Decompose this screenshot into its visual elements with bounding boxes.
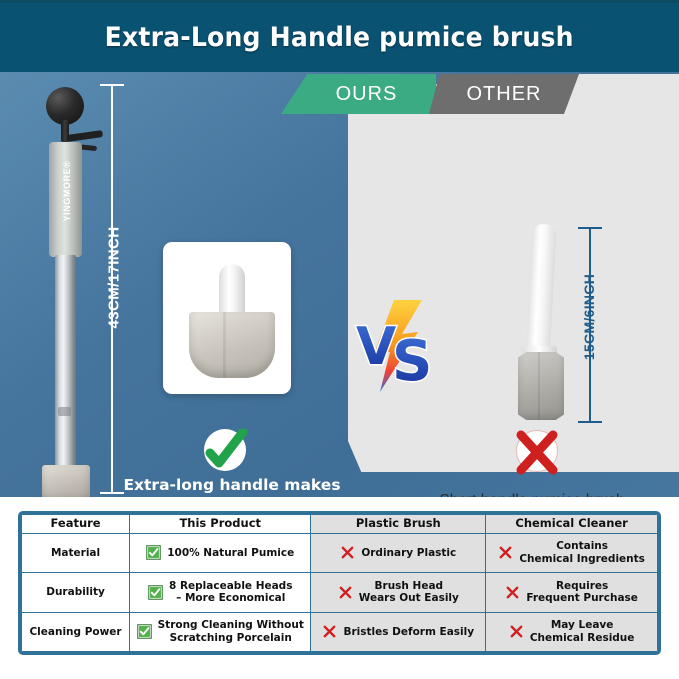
brush-pumice-head [42,465,90,497]
cross-icon [509,624,524,639]
banner-ours-label: OURS [336,83,398,106]
dimension-line-left-top-cap [100,84,124,86]
svg-text:V: V [356,317,396,377]
brush-hook-upper [67,130,104,142]
check-icon [148,585,163,600]
cross-icon [508,430,564,478]
table-row: Material100% Natural PumiceOrdinary Plas… [22,533,658,572]
table-cell-plastic-brush-text: Ordinary Plastic [361,547,456,559]
table-header-feature: Feature [22,515,130,534]
table-cell-this-product-text: 8 Replaceable Heads– More Economical [169,580,292,605]
dimension-line-left-bottom-cap [100,492,124,494]
table-cell-feature: Material [22,533,130,572]
pumice-head-connector [219,264,245,318]
short-handle-brush-image [512,224,570,414]
vs-badge: V S VS [352,298,438,394]
pumice-head-stone [189,312,275,378]
pumice-head-photo-card [163,242,291,394]
table-cell-chemical-cleaner-text: ContainsChemical Ingredients [519,540,645,565]
dimension-line-right-bottom-cap [578,421,602,423]
banner-tail [565,74,679,114]
table-header-chemical-cleaner: Chemical Cleaner [486,515,658,534]
short-brush-handle [526,224,557,353]
banner-other-label: OTHER [467,83,542,106]
check-icon [146,545,161,560]
table-cell-plastic-brush-text: Bristles Deform Easily [343,626,474,638]
table-cell-this-product: 8 Replaceable Heads– More Economical [130,573,311,612]
dimension-label-left: 43CM/17INCH [106,218,123,338]
comparison-table-element: Feature This Product Plastic Brush Chemi… [21,514,658,652]
cross-badge [508,430,564,478]
check-badge [196,429,252,477]
right-caption: Short handle pumice brush [386,492,678,497]
check-icon [196,429,252,477]
table-cell-this-product-text: 100% Natural Pumice [167,547,294,559]
vs-text: VS [352,298,373,302]
brush-rod-marking [58,407,71,416]
title-bar: Extra-Long Handle pumice brush [0,0,679,72]
cross-icon [338,585,353,600]
infographic-page: Extra-Long Handle pumice brush OURS OTHE… [0,0,679,679]
table-header-plastic-brush: Plastic Brush [311,515,486,534]
cross-icon [505,585,520,600]
svg-text:S: S [392,329,432,394]
table-row: Durability8 Replaceable Heads– More Econ… [22,573,658,612]
table-cell-chemical-cleaner: RequiresFrequent Purchase [486,573,658,612]
dimension-line-right-top-cap [578,227,602,229]
table-cell-plastic-brush: Bristles Deform Easily [311,612,486,652]
brush-rod [55,255,76,470]
comparison-table: Feature This Product Plastic Brush Chemi… [18,511,661,655]
table-cell-plastic-brush: Ordinary Plastic [311,533,486,572]
table-header-row: Feature This Product Plastic Brush Chemi… [22,515,658,534]
table-cell-plastic-brush-text: Brush HeadWears Out Easily [359,580,459,605]
dimension-line-right: 15CM/6INCH [578,227,602,423]
table-row: Cleaning PowerStrong Cleaning WithoutScr… [22,612,658,652]
table-cell-feature: Cleaning Power [22,612,130,652]
brand-label: YINGMORE® [62,141,72,241]
banner-ours: OURS [281,74,436,114]
cross-icon [322,624,337,639]
long-handle-brush-image: YINGMORE® [34,87,106,487]
dimension-line-left: 43CM/17INCH [100,84,124,494]
left-caption: Extra-long handle makes cleaning easier … [122,476,342,497]
page-title: Extra-Long Handle pumice brush [105,22,574,53]
comparison-stage: OURS OTHER YINGMORE® 43CM/17INCH [0,72,679,497]
table-cell-this-product-text: Strong Cleaning WithoutScratching Porcel… [158,619,304,644]
table-header-this-product: This Product [130,515,311,534]
dimension-label-right: 15CM/6INCH [581,262,597,372]
check-icon [137,624,152,639]
table-cell-this-product: 100% Natural Pumice [130,533,311,572]
brush-grip: YINGMORE® [49,142,82,257]
table-cell-chemical-cleaner: May LeaveChemical Residue [486,612,658,652]
table-cell-chemical-cleaner: ContainsChemical Ingredients [486,533,658,572]
table-cell-chemical-cleaner-text: RequiresFrequent Purchase [526,580,638,605]
banner-other: OTHER [429,74,579,114]
lightning-bolt-icon: V S VS [352,298,438,394]
table-cell-chemical-cleaner-text: May LeaveChemical Residue [530,619,635,644]
table-body: Material100% Natural PumiceOrdinary Plas… [22,533,658,651]
ours-other-banner: OURS OTHER [281,74,679,114]
table-cell-feature: Durability [22,573,130,612]
cross-icon [340,545,355,560]
table-cell-this-product: Strong Cleaning WithoutScratching Porcel… [130,612,311,652]
table-cell-plastic-brush: Brush HeadWears Out Easily [311,573,486,612]
cross-icon [498,545,513,560]
short-brush-pumice-stone [518,352,564,420]
